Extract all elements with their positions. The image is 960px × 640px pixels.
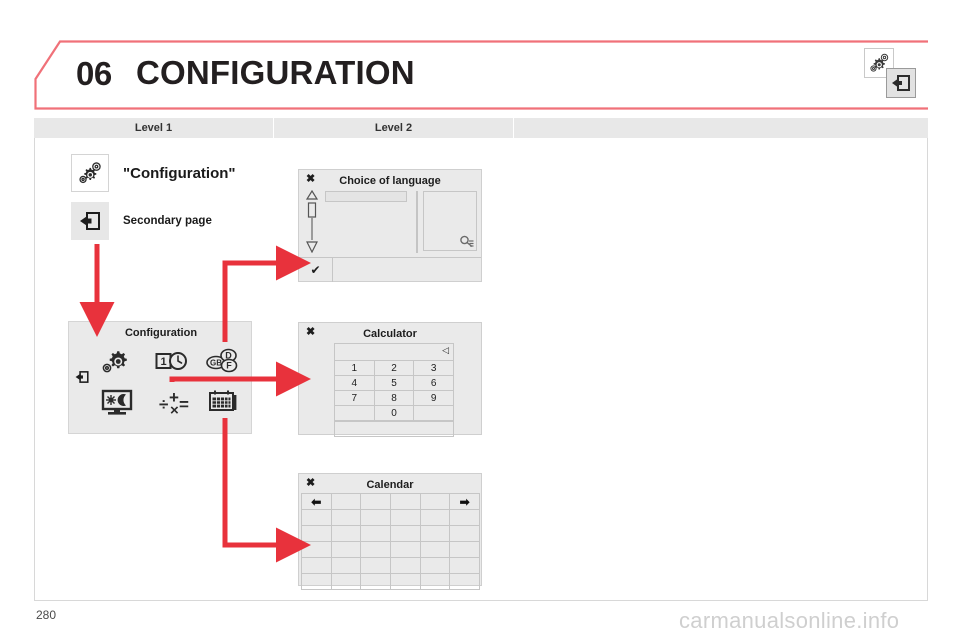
- calendar-cell[interactable]: [391, 526, 421, 542]
- calendar-cell[interactable]: [332, 494, 362, 510]
- panel-calculator[interactable]: ✖ Calculator ◁ 1 2 3 4 5 6 7 8 9: [298, 322, 482, 435]
- calendar-cell[interactable]: [361, 542, 391, 558]
- level-2-header: Level 2: [274, 118, 514, 138]
- content-bottom-border: [34, 600, 928, 601]
- level-3-header: [514, 118, 928, 138]
- confirm-button[interactable]: ✔: [299, 258, 333, 282]
- calendar-cell[interactable]: [421, 574, 451, 590]
- svg-text:×: ×: [170, 402, 179, 418]
- panel-title-language: Choice of language: [299, 175, 481, 187]
- scroll-up-icon: [307, 191, 317, 199]
- calendar-row: [302, 574, 480, 590]
- panel-title-calendar: Calendar: [299, 479, 481, 491]
- calendar-row: [302, 526, 480, 542]
- header-icon-group: [864, 48, 924, 103]
- calendar-cell[interactable]: [302, 526, 332, 542]
- calendar-cell[interactable]: [421, 558, 451, 574]
- calc-key-1[interactable]: 1: [335, 361, 375, 375]
- calendar-cell[interactable]: [450, 542, 480, 558]
- calendar-cell[interactable]: [302, 542, 332, 558]
- watermark: carmanualsonline.info: [679, 608, 899, 634]
- calendar-cell[interactable]: [450, 558, 480, 574]
- calc-key-blank-left[interactable]: [335, 406, 375, 420]
- calendar-cell[interactable]: [332, 510, 362, 526]
- configuration-menu-screen[interactable]: Configuration: [68, 321, 252, 434]
- calc-key-4[interactable]: 4: [335, 376, 375, 390]
- calendar-cell[interactable]: [391, 558, 421, 574]
- calendar-cell[interactable]: [450, 526, 480, 542]
- keypad-row: 0: [335, 406, 453, 421]
- panel-title-calculator: Calculator: [299, 328, 481, 340]
- calculator-keypad[interactable]: ◁ 1 2 3 4 5 6 7 8 9 0: [334, 343, 454, 437]
- legend-label-secondary-page: Secondary page: [123, 215, 212, 227]
- calendar-cell[interactable]: [450, 510, 480, 526]
- calendar-cell[interactable]: [391, 574, 421, 590]
- calc-key-2[interactable]: 2: [375, 361, 415, 375]
- scroll-thumb: [309, 203, 316, 217]
- configuration-menu-title: Configuration: [69, 327, 253, 339]
- calc-key-7[interactable]: 7: [335, 391, 375, 405]
- calendar-cell[interactable]: [421, 510, 451, 526]
- config-item-date-time[interactable]: 1: [151, 347, 193, 381]
- close-icon[interactable]: ✖: [306, 327, 315, 338]
- gears-icon: [71, 154, 109, 192]
- calendar-cell[interactable]: [391, 510, 421, 526]
- config-item-settings[interactable]: [96, 347, 138, 381]
- svg-text:F: F: [226, 360, 232, 370]
- secondary-page-icon[interactable]: [73, 368, 91, 386]
- calc-key-blank-right[interactable]: [414, 406, 453, 420]
- calendar-cell[interactable]: [421, 494, 451, 510]
- calendar-cell[interactable]: [332, 558, 362, 574]
- calculator-icon: ÷ + × =: [153, 388, 191, 423]
- language-selection-field[interactable]: [325, 191, 407, 202]
- level-header-row: Level 1 Level 2: [34, 118, 928, 138]
- panel-choice-of-language[interactable]: ✖ Choice of language: [298, 169, 482, 282]
- calendar-cell[interactable]: [361, 526, 391, 542]
- keypad-row: 7 8 9: [335, 391, 453, 406]
- content-right-border: [927, 138, 928, 600]
- calc-key-0[interactable]: 0: [375, 406, 415, 420]
- calendar-row: [302, 542, 480, 558]
- level-1-header: Level 1: [34, 118, 274, 138]
- arrow-calendar-to-panel: [225, 418, 282, 545]
- language-icon: GB D F: [204, 346, 242, 381]
- calendar-cell[interactable]: [361, 558, 391, 574]
- calendar-cell[interactable]: [302, 574, 332, 590]
- calendar-cell[interactable]: [361, 494, 391, 510]
- calendar-cell[interactable]: [302, 558, 332, 574]
- calendar-cell[interactable]: [361, 574, 391, 590]
- calculator-result-bar: [335, 421, 453, 436]
- secondary-page-icon: [71, 202, 109, 240]
- close-icon[interactable]: ✖: [306, 174, 315, 185]
- chapter-number: 06: [76, 55, 112, 93]
- legend-row-configuration: "Configuration": [71, 154, 236, 192]
- calc-key-5[interactable]: 5: [375, 376, 415, 390]
- calendar-cell[interactable]: [391, 542, 421, 558]
- scrollbar[interactable]: [305, 190, 319, 253]
- calendar-cell[interactable]: [332, 542, 362, 558]
- key-icon: [459, 234, 475, 250]
- panel-divider: [416, 191, 418, 253]
- manual-page: 06 CONFIGURATION: [0, 0, 960, 640]
- display-brightness-icon: [100, 388, 134, 423]
- config-item-display[interactable]: [96, 388, 138, 422]
- calc-key-3[interactable]: 3: [414, 361, 453, 375]
- scroll-down-icon: [307, 242, 317, 252]
- keypad-row: 4 5 6: [335, 376, 453, 391]
- calendar-cell[interactable]: [421, 542, 451, 558]
- gears-icon: [100, 347, 134, 382]
- config-item-calendar[interactable]: [202, 387, 244, 421]
- calendar-row: [302, 558, 480, 574]
- calendar-icon: [206, 388, 240, 421]
- date-time-icon: 1: [155, 349, 189, 380]
- chapter-banner: 06 CONFIGURATION: [34, 40, 928, 110]
- legend-label-configuration: "Configuration": [123, 165, 236, 182]
- page-title: CONFIGURATION: [136, 54, 415, 92]
- calc-key-6[interactable]: 6: [414, 376, 453, 390]
- config-item-language[interactable]: GB D F: [202, 346, 244, 380]
- secondary-page-icon: [886, 68, 916, 98]
- svg-text:GB: GB: [210, 358, 222, 367]
- content-left-border: [34, 138, 35, 600]
- calendar-cell[interactable]: [332, 526, 362, 542]
- page-number: 280: [36, 608, 56, 622]
- calendar-cell[interactable]: [361, 510, 391, 526]
- calendar-cell[interactable]: [421, 526, 451, 542]
- calc-key-9[interactable]: 9: [414, 391, 453, 405]
- next-month-button[interactable]: ➡: [450, 494, 480, 510]
- calendar-cell[interactable]: [391, 494, 421, 510]
- backspace-icon[interactable]: ◁: [442, 345, 449, 356]
- calculator-display: ◁: [335, 344, 453, 361]
- svg-text:=: =: [179, 395, 189, 414]
- calendar-cell[interactable]: [450, 574, 480, 590]
- calendar-grid[interactable]: ⬅ ➡: [301, 493, 480, 590]
- keypad-row: 1 2 3: [335, 361, 453, 376]
- svg-text:÷: ÷: [159, 395, 168, 414]
- calendar-row: [302, 510, 480, 526]
- panel-calendar[interactable]: ✖ Calendar ⬅ ➡: [298, 473, 482, 586]
- calendar-cell[interactable]: [332, 574, 362, 590]
- calendar-nav-row: ⬅ ➡: [302, 494, 480, 510]
- calendar-cell[interactable]: [302, 510, 332, 526]
- panel-footer-bar: ✔: [299, 257, 481, 282]
- svg-text:1: 1: [160, 356, 166, 368]
- previous-month-button[interactable]: ⬅: [302, 494, 332, 510]
- calc-key-8[interactable]: 8: [375, 391, 415, 405]
- close-icon[interactable]: ✖: [306, 478, 315, 489]
- legend-row-secondary-page: Secondary page: [71, 202, 212, 240]
- config-item-calculator[interactable]: ÷ + × =: [151, 388, 193, 422]
